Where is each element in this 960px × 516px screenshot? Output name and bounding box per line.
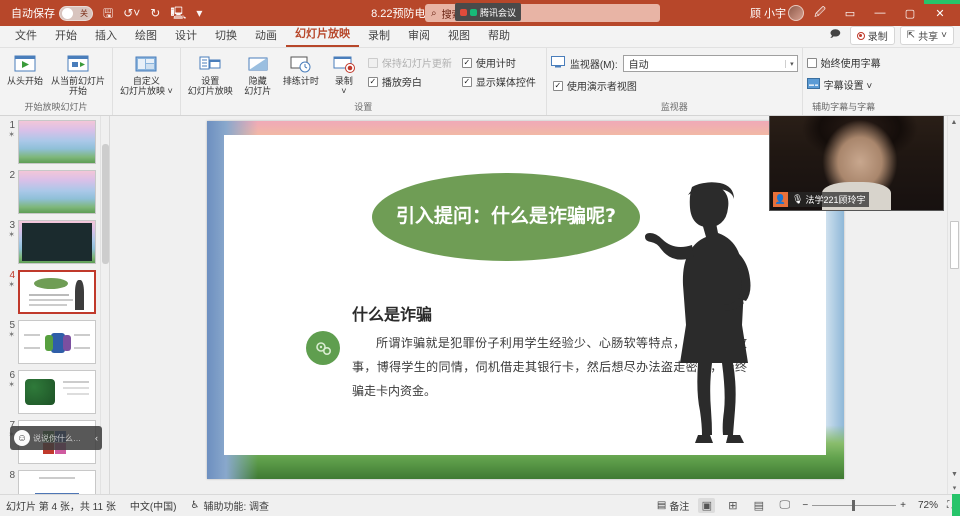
present-icon: 🖳 xyxy=(170,7,186,19)
checkbox-icon xyxy=(368,58,378,68)
status-bar-right: ▤ 备注 ▣ ⊞ ▤ 🖵 − + 72% ⛶ xyxy=(657,498,954,513)
use-timings-checkbox[interactable]: ✓ 使用计时 xyxy=(462,55,536,70)
minimize-button[interactable]: — xyxy=(866,0,894,26)
accessibility-icon: ♿ xyxy=(191,500,200,511)
accessibility-status[interactable]: ♿ 辅助功能: 调查 xyxy=(191,498,270,513)
slideshow-options-column-1: 保持幻灯片更新 ✓ 播放旁白 xyxy=(366,51,458,89)
setup-show-label: 设置 幻灯片放映 xyxy=(188,76,233,97)
thumbnail-number-text: 8 xyxy=(9,470,15,481)
accessibility-label: 辅助功能: 调查 xyxy=(203,498,269,513)
ribbon-group-custom-show: 自定义 幻灯片放映 ˅ xyxy=(113,48,181,115)
mini-text-line xyxy=(74,347,90,349)
autosave-state: 关 xyxy=(80,8,88,19)
chevron-down-icon[interactable]: ˅ xyxy=(941,30,947,41)
rehearse-timing-button[interactable]: 排练计时 xyxy=(280,51,322,88)
slide-vertical-scrollbar[interactable]: ▲ ▼ ▾ xyxy=(947,116,960,494)
monitor-label: 监视器(M): xyxy=(570,56,618,71)
screen-share-indicator xyxy=(924,0,960,4)
quick-access-more-button[interactable]: ▾ xyxy=(191,3,207,23)
tab-insert[interactable]: 插入 xyxy=(86,24,126,47)
zoom-slider[interactable] xyxy=(812,505,896,506)
play-from-start-button[interactable]: 从头开始 xyxy=(4,51,46,88)
caption-settings-button[interactable]: 字幕设置 ˅ xyxy=(807,77,873,92)
monitor-select[interactable]: 自动 ▾ xyxy=(623,55,798,72)
thumbnail-item-8[interactable]: 8 xyxy=(0,466,109,494)
tab-transitions[interactable]: 切换 xyxy=(206,24,246,47)
animation-star-icon: ✶ xyxy=(4,331,15,340)
meeting-float-widget[interactable]: ☺ 说说你什么… ‹ xyxy=(10,426,102,450)
person-icon: 👤 xyxy=(773,192,788,207)
slide-video-art xyxy=(22,223,92,261)
autosave-switch[interactable]: 关 xyxy=(59,6,93,21)
save-button[interactable]: 🖫 xyxy=(98,3,118,23)
chevron-down-icon[interactable]: ▾ xyxy=(785,60,794,68)
mini-text-line xyxy=(74,334,90,336)
record-slideshow-button[interactable]: 录制 ˅ xyxy=(324,51,364,99)
checkbox-checked-icon: ✓ xyxy=(462,58,472,68)
more-icon: ▾ xyxy=(196,7,202,19)
keep-slides-updated-label: 保持幻灯片更新 xyxy=(382,55,452,70)
autosave-knob xyxy=(62,8,73,19)
thumbnail-number: 3 ✶ xyxy=(4,220,18,240)
scroll-up-arrow-icon[interactable]: ▲ xyxy=(948,116,960,129)
mini-text-line xyxy=(29,304,67,306)
search-icon: ⌕ xyxy=(431,8,437,19)
tab-view[interactable]: 视图 xyxy=(439,24,479,47)
share-button-label: 共享 xyxy=(918,28,938,43)
tab-slideshow[interactable]: 幻灯片放映 xyxy=(286,22,359,47)
ribbon-group-label-monitors: 监视器 xyxy=(551,100,798,115)
screen-share-indicator-bottom xyxy=(952,494,960,516)
mini-figure xyxy=(75,280,84,310)
title-bar: 自动保存 关 🖫 ↺˅ ↻ 🖳 ▾ 8.22预防电信诈骗班会 • 已保存到这台电… xyxy=(0,0,960,26)
language-indicator[interactable]: 中文(中国) xyxy=(130,498,177,513)
use-timings-label: 使用计时 xyxy=(476,55,516,70)
meeting-widget-text: 说说你什么… xyxy=(33,433,92,444)
checkbox-icon xyxy=(807,58,817,68)
animation-star-icon: ✶ xyxy=(4,231,15,240)
play-narrations-label: 播放旁白 xyxy=(382,74,422,89)
thumbnail-preview[interactable] xyxy=(18,220,96,264)
view-normal-button[interactable]: ▣ xyxy=(698,498,715,513)
thumbnail-item-2[interactable]: 2 xyxy=(0,166,109,216)
participant-name: 法学221顾玲宇 xyxy=(805,193,865,206)
meeting-popup[interactable]: 腾讯会议 xyxy=(455,3,521,21)
show-media-controls-checkbox[interactable]: ✓ 显示媒体控件 xyxy=(462,74,536,89)
chevron-left-icon[interactable]: ‹ xyxy=(95,433,98,443)
scroll-down-arrow-icon[interactable]: ▼ xyxy=(948,468,960,481)
tab-home[interactable]: 开始 xyxy=(46,24,86,47)
play-narrations-checkbox[interactable]: ✓ 播放旁白 xyxy=(368,74,452,89)
hide-slide-icon xyxy=(246,53,270,75)
play-from-start-icon xyxy=(13,53,37,75)
thumbnail-number: 4 ✶ xyxy=(4,270,18,290)
slide-art xyxy=(19,471,95,494)
ribbon: 从头开始 从当前幻灯片 开始 开始放映幻灯片 xyxy=(0,48,960,116)
thumbnail-number: 5 ✶ xyxy=(4,320,18,340)
checkbox-checked-icon: ✓ xyxy=(553,81,563,91)
checkbox-checked-icon: ✓ xyxy=(368,77,378,87)
mini-diagram xyxy=(25,379,55,405)
zoom-out-button[interactable]: − xyxy=(802,500,808,511)
record-button-label: 录制 xyxy=(868,28,888,43)
video-feed[interactable]: 👤 🎙 法学221顾玲宇 xyxy=(770,116,943,210)
record-slideshow-icon xyxy=(332,53,356,75)
slide-content-area[interactable]: 引入提问：什么是诈骗呢? 什么是诈骗 所谓诈骗就是犯罪份子利用学生经验少、心肠软… xyxy=(224,135,826,455)
tab-draw[interactable]: 绘图 xyxy=(126,24,166,47)
mini-text-line xyxy=(63,381,89,383)
thumbnail-item-6[interactable]: 6 ✶ xyxy=(0,366,109,416)
slide-title-shape[interactable]: 引入提问：什么是诈骗呢? xyxy=(372,173,640,261)
tab-help[interactable]: 帮助 xyxy=(479,24,519,47)
ribbon-group-start-slideshow: 从头开始 从当前幻灯片 开始 开始放映幻灯片 xyxy=(0,48,113,115)
meeting-red-dot-icon xyxy=(460,9,467,16)
thumbnail-item-5[interactable]: 5 ✶ xyxy=(0,316,109,366)
ribbon-tab-bar: 文件 开始 插入 绘图 设计 切换 动画 幻灯片放映 录制 审阅 视图 帮助 🗩… xyxy=(0,26,960,48)
main-area: 1 ✶ 2 3 ✶ 4 ✶ xyxy=(0,116,960,494)
teacher-silhouette[interactable] xyxy=(630,179,780,447)
ribbon-group-captions: 始终使用字幕 字幕设置 ˅ 辅助字幕与字幕 xyxy=(803,48,885,115)
microphone-small-icon: 🎙 xyxy=(792,194,803,205)
checkbox-checked-icon: ✓ xyxy=(462,77,472,87)
slide-editing-stage[interactable]: 引入提问：什么是诈骗呢? 什么是诈骗 所谓诈骗就是犯罪份子利用学生经验少、心肠软… xyxy=(110,116,960,494)
mini-diagram xyxy=(45,335,53,351)
mini-ellipse xyxy=(34,278,68,289)
custom-show-button[interactable]: 自定义 幻灯片放映 ˅ xyxy=(117,51,176,99)
thumbnail-preview[interactable] xyxy=(18,320,96,364)
ribbon-group-setup: 设置 幻灯片放映 隐藏 幻灯片 xyxy=(181,48,547,115)
thumbnail-item-4[interactable]: 4 ✶ xyxy=(0,266,109,316)
next-slide-icon[interactable]: ▾ xyxy=(948,481,960,494)
share-icon: ⇱ xyxy=(907,30,915,41)
meeting-video-panel[interactable]: 🎙 正在讲话 👤 🎙 法学221顾玲宇 xyxy=(769,116,944,211)
mini-text-line xyxy=(24,347,40,349)
custom-show-icon xyxy=(134,53,158,75)
autosave-toggle[interactable]: 自动保存 关 xyxy=(6,3,98,23)
slide-heading[interactable]: 什么是诈骗 xyxy=(352,301,432,325)
notes-button[interactable]: ▤ 备注 xyxy=(657,498,689,513)
thumbnail-preview[interactable] xyxy=(18,120,96,164)
avatar[interactable] xyxy=(788,5,804,21)
play-from-current-icon xyxy=(66,53,90,75)
caption-settings-icon xyxy=(807,78,820,92)
meeting-popup-label: 腾讯会议 xyxy=(480,6,516,19)
always-use-subtitles-checkbox[interactable]: 始终使用字幕 xyxy=(807,55,881,70)
mini-text-line xyxy=(29,299,73,301)
mini-diagram xyxy=(63,335,71,351)
record-button[interactable]: 录制 xyxy=(850,26,895,45)
mini-text-line xyxy=(63,387,89,389)
show-media-controls-label: 显示媒体控件 xyxy=(476,74,536,89)
play-from-current-button[interactable]: 从当前幻灯片 开始 xyxy=(48,51,108,99)
mini-text-line xyxy=(67,393,89,395)
ribbon-actions: 🗩 录制 ⇱ 共享 ˅ xyxy=(826,26,960,47)
view-slideshow-button[interactable]: 🖵 xyxy=(776,498,793,513)
meeting-green-dot-icon xyxy=(470,9,477,16)
hide-slide-label: 隐藏 幻灯片 xyxy=(244,76,271,97)
slide-art xyxy=(19,171,95,213)
caption-settings-label: 字幕设置 ˅ xyxy=(824,77,873,92)
thumbnail-preview[interactable] xyxy=(18,170,96,214)
tab-design[interactable]: 设计 xyxy=(166,24,206,47)
start-presentation-button[interactable]: 🖳 xyxy=(165,3,191,23)
tab-animations[interactable]: 动画 xyxy=(246,24,286,47)
notes-icon: ▤ xyxy=(657,500,666,511)
record-icon xyxy=(857,32,865,40)
thumbnail-number: 2 xyxy=(4,170,18,181)
thumbnail-preview[interactable] xyxy=(18,370,96,414)
participant-name-badge: 👤 🎙 法学221顾玲宇 xyxy=(773,192,869,207)
monitor-icon xyxy=(551,56,565,71)
view-slide-sorter-button[interactable]: ⊞ xyxy=(724,498,741,513)
thumbnail-preview[interactable] xyxy=(18,470,96,494)
presenter-view-label: 使用演示者视图 xyxy=(567,78,637,93)
slide-art xyxy=(19,121,95,163)
slide-count[interactable]: 幻灯片 第 4 张，共 11 张 xyxy=(6,498,116,513)
record-slideshow-label: 录制 ˅ xyxy=(335,76,353,97)
save-icon: 🖫 xyxy=(103,7,113,19)
thumbnail-number: 1 ✶ xyxy=(4,120,18,140)
mini-text-line xyxy=(29,294,69,296)
play-from-start-label: 从头开始 xyxy=(7,76,43,86)
pen-icon[interactable]: 🖉 xyxy=(806,0,834,26)
ribbon-group-label-captions: 辅助字幕与字幕 xyxy=(807,100,881,115)
thumbnail-number-text: 2 xyxy=(9,170,15,181)
animation-star-icon: ✶ xyxy=(4,381,15,390)
ribbon-group-label-setup: 设置 xyxy=(185,100,542,115)
ribbon-group-label-custom-show xyxy=(117,113,176,115)
hide-slide-button[interactable]: 隐藏 幻灯片 xyxy=(238,51,278,99)
thumbnail-number: 6 ✶ xyxy=(4,370,18,390)
thumbnail-item-1[interactable]: 1 ✶ xyxy=(0,116,109,166)
current-slide[interactable]: 引入提问：什么是诈骗呢? 什么是诈骗 所谓诈骗就是犯罪份子利用学生经验少、心肠软… xyxy=(207,121,844,479)
custom-show-label: 自定义 幻灯片放映 ˅ xyxy=(120,76,173,97)
ribbon-display-options-button[interactable]: ▭ xyxy=(836,0,864,26)
maximize-button[interactable]: ▢ xyxy=(896,0,924,26)
notes-label: 备注 xyxy=(669,498,689,513)
redo-icon: ↻ xyxy=(150,7,160,19)
mini-text-line xyxy=(24,334,40,336)
thumbnail-number: 8 xyxy=(4,470,18,481)
scrollbar-thumb[interactable] xyxy=(950,221,959,269)
monitor-row: 监视器(M): 自动 ▾ xyxy=(551,55,798,72)
thumbnail-item-3[interactable]: 3 ✶ xyxy=(0,216,109,266)
tab-review[interactable]: 审阅 xyxy=(399,24,439,47)
zoom-in-button[interactable]: + xyxy=(900,500,906,511)
setup-show-button[interactable]: 设置 幻灯片放映 xyxy=(185,51,236,99)
monitor-value: 自动 xyxy=(629,56,649,71)
account-name[interactable]: 顾 小宇 xyxy=(750,5,786,21)
gear-cluster-icon xyxy=(306,331,340,365)
thumbnail-preview-selected[interactable] xyxy=(18,270,96,314)
animation-star-icon: ✶ xyxy=(4,281,15,290)
ribbon-group-label-start-slideshow: 开始放映幻灯片 xyxy=(4,100,108,115)
tab-record[interactable]: 录制 xyxy=(359,24,399,47)
zoom-level[interactable]: 72% xyxy=(910,500,938,511)
presenter-view-checkbox[interactable]: ✓ 使用演示者视图 xyxy=(551,78,637,93)
share-button[interactable]: ⇱ 共享 ˅ xyxy=(900,26,954,45)
view-reading-button[interactable]: ▤ xyxy=(750,498,767,513)
autosave-label: 自动保存 xyxy=(11,5,55,21)
rehearse-timing-label: 排练计时 xyxy=(283,76,319,86)
redo-button[interactable]: ↻ xyxy=(145,3,165,23)
ribbon-group-monitors: 监视器(M): 自动 ▾ ✓ 使用演示者视图 监视器 xyxy=(547,48,803,115)
zoom-slider-knob[interactable] xyxy=(852,500,855,511)
undo-icon: ↺˅ xyxy=(123,7,140,19)
play-from-current-label: 从当前幻灯片 开始 xyxy=(51,76,105,97)
setup-show-icon xyxy=(198,53,222,75)
slide-title-text: 引入提问：什么是诈骗呢? xyxy=(396,205,616,229)
comments-button[interactable]: 🗩 xyxy=(826,26,845,45)
participant-name-container: 🎙 法学221顾玲宇 xyxy=(788,192,869,207)
thumbnail-scrollbar-thumb[interactable] xyxy=(102,144,109,264)
comment-icon: 🗩 xyxy=(830,27,841,44)
status-bar: 幻灯片 第 4 张，共 11 张 中文(中国) ♿ 辅助功能: 调查 ▤ 备注 … xyxy=(0,494,960,516)
slideshow-options-column-2: ✓ 使用计时 ✓ 显示媒体控件 xyxy=(460,51,542,89)
zoom-control[interactable]: − + 72% xyxy=(802,500,938,511)
smiley-icon[interactable]: ☺ xyxy=(14,430,30,446)
always-use-subtitles-label: 始终使用字幕 xyxy=(821,55,881,70)
mini-text-line xyxy=(39,477,75,479)
keep-slides-updated-checkbox: 保持幻灯片更新 xyxy=(368,55,452,70)
animation-star-icon: ✶ xyxy=(4,131,15,140)
tab-file[interactable]: 文件 xyxy=(6,24,46,47)
undo-button[interactable]: ↺˅ xyxy=(118,3,145,23)
rehearse-timing-icon xyxy=(289,53,313,75)
slide-thumbnail-pane[interactable]: 1 ✶ 2 3 ✶ 4 ✶ xyxy=(0,116,110,494)
